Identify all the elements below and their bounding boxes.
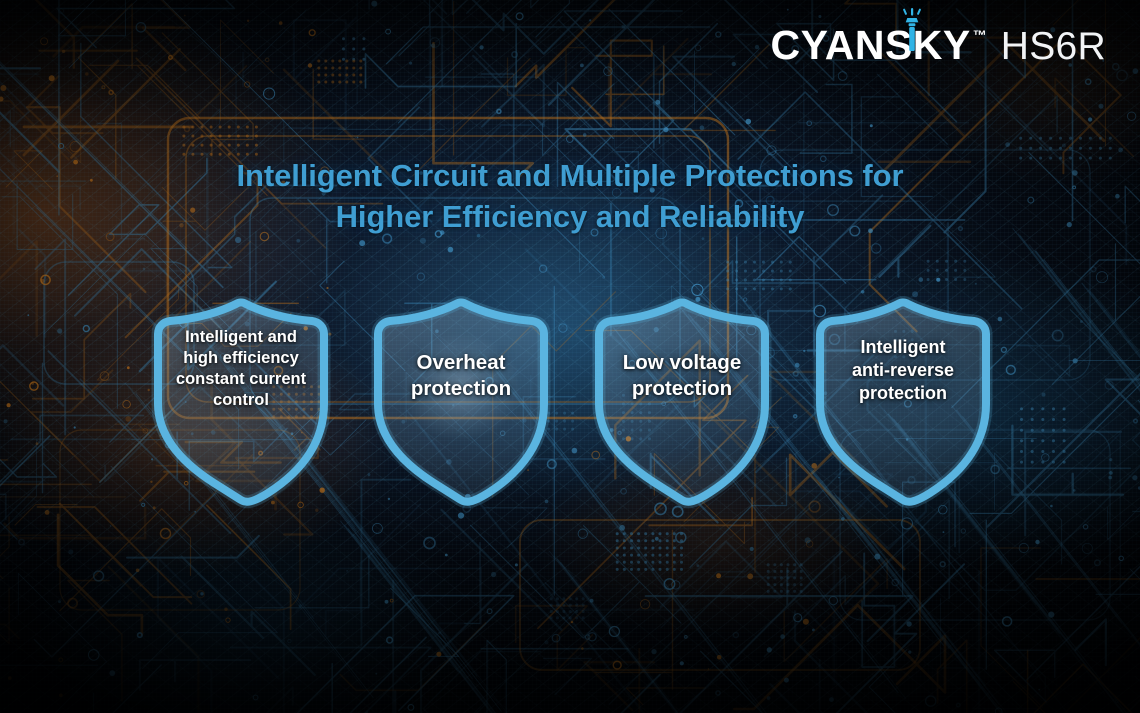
protection-features-row: Intelligent andhigh efficiencyconstant c… <box>0 300 1140 515</box>
shield-overheat-protection[interactable]: Overheatprotection <box>368 300 554 505</box>
brand-logo[interactable]: CYANS KY ™ HS6R <box>771 25 1106 66</box>
shield-low-voltage-protection[interactable]: Low voltageprotection <box>589 300 775 505</box>
banner-stage: CYANS KY ™ HS6R Intelligent Circuit and … <box>0 0 1140 713</box>
trademark-symbol: ™ <box>973 27 987 43</box>
shield-intelligent-anti-reverse[interactable]: Intelligentanti-reverseprotection <box>810 300 996 505</box>
shield-intelligent-constant-current[interactable]: Intelligent andhigh efficiencyconstant c… <box>148 300 334 505</box>
shield-shape <box>589 300 775 505</box>
brand-name: CYANS KY <box>771 25 971 66</box>
shield-shape <box>810 300 996 505</box>
shield-shape <box>148 300 334 505</box>
brand-name-part-2: KY <box>913 22 971 68</box>
brand-name-k-group: KY <box>913 25 971 66</box>
product-model: HS6R <box>1001 27 1106 66</box>
shield-shape <box>368 300 554 505</box>
brand-name-part-1: CYANS <box>771 22 913 68</box>
